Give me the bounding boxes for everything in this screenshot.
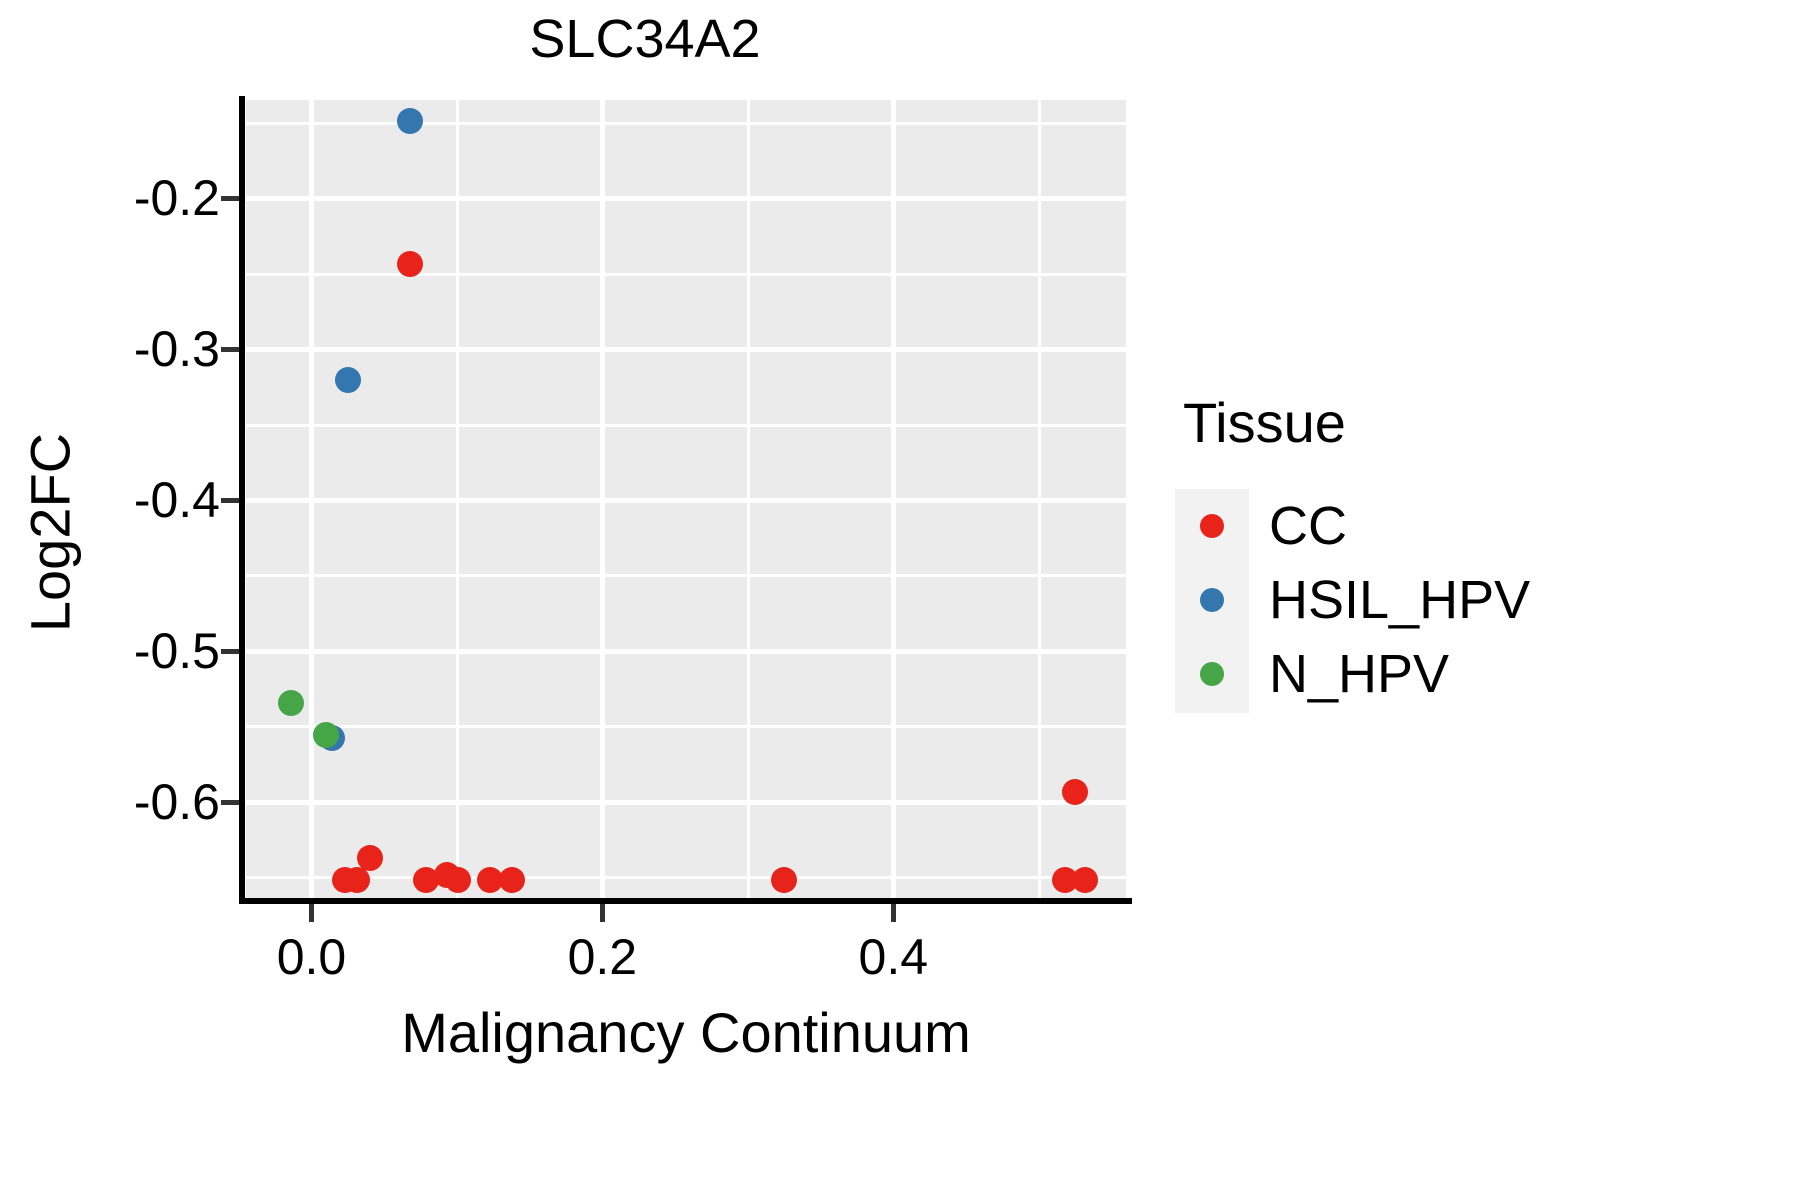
- legend-label: CC: [1269, 499, 1347, 553]
- data-point: [445, 867, 471, 893]
- x-tick-mark: [309, 904, 314, 922]
- gridline-horizontal-major: [246, 800, 1126, 805]
- x-axis-title: Malignancy Continuum: [246, 1000, 1126, 1065]
- x-tick-label: 0.4: [859, 928, 929, 986]
- gridline-horizontal-minor: [246, 574, 1126, 577]
- legend-title: Tissue: [1183, 390, 1675, 455]
- legend-item-hsil-hpv[interactable]: HSIL_HPV: [1175, 563, 1675, 637]
- legend: Tissue CCHSIL_HPVN_HPV: [1175, 390, 1675, 711]
- gridline-horizontal-major: [246, 196, 1126, 201]
- gridline-horizontal-minor: [246, 876, 1126, 879]
- legend-dot-icon: [1200, 662, 1224, 686]
- y-axis-title: Log2FC: [18, 333, 83, 733]
- data-point: [278, 690, 304, 716]
- x-tick-mark: [600, 904, 605, 922]
- gridline-horizontal-major: [246, 347, 1126, 352]
- gridline-vertical-major: [309, 100, 314, 900]
- data-point: [771, 867, 797, 893]
- gridline-vertical-major: [891, 100, 896, 900]
- gridline-vertical-minor: [1038, 100, 1041, 900]
- data-point: [313, 722, 339, 748]
- y-tick-mark: [221, 649, 239, 654]
- gridline-vertical-major: [600, 100, 605, 900]
- gridline-vertical-minor: [747, 100, 750, 900]
- y-tick-label: -0.3: [134, 320, 220, 378]
- gridline-horizontal-major: [246, 498, 1126, 503]
- y-tick-mark: [221, 347, 239, 352]
- x-tick-mark: [891, 904, 896, 922]
- chart-root: SLC34A2 -0.2-0.3-0.4-0.5-0.6 0.00.20.4 L…: [0, 0, 1800, 1200]
- gridline-vertical-minor: [456, 100, 459, 900]
- data-point: [1072, 867, 1098, 893]
- legend-key: [1175, 563, 1249, 637]
- data-point: [1062, 779, 1088, 805]
- data-point: [397, 251, 423, 277]
- y-tick-label: -0.4: [134, 471, 220, 529]
- x-axis-line: [239, 898, 1132, 904]
- x-tick-label: 0.2: [568, 928, 638, 986]
- legend-key: [1175, 637, 1249, 711]
- legend-items: CCHSIL_HPVN_HPV: [1175, 489, 1675, 711]
- plot-panel: [246, 100, 1126, 900]
- legend-item-n-hpv[interactable]: N_HPV: [1175, 637, 1675, 711]
- y-tick-mark: [221, 800, 239, 805]
- gridline-horizontal-minor: [246, 424, 1126, 427]
- gridline-horizontal-minor: [246, 122, 1126, 125]
- data-point: [335, 367, 361, 393]
- x-tick-label: 0.0: [277, 928, 347, 986]
- y-tick-mark: [221, 196, 239, 201]
- legend-label: HSIL_HPV: [1269, 573, 1530, 627]
- legend-key: [1175, 489, 1249, 563]
- gridline-horizontal-minor: [246, 725, 1126, 728]
- y-tick-label: -0.5: [134, 622, 220, 680]
- y-tick-label: -0.6: [134, 773, 220, 831]
- y-axis-line: [239, 96, 245, 904]
- data-point: [499, 867, 525, 893]
- y-tick-mark: [221, 498, 239, 503]
- data-point: [397, 108, 423, 134]
- gridline-horizontal-minor: [246, 273, 1126, 276]
- legend-label: N_HPV: [1269, 647, 1449, 701]
- y-tick-label: -0.2: [134, 169, 220, 227]
- legend-dot-icon: [1200, 514, 1224, 538]
- legend-dot-icon: [1200, 588, 1224, 612]
- data-point: [344, 867, 370, 893]
- gridline-horizontal-major: [246, 649, 1126, 654]
- legend-item-cc[interactable]: CC: [1175, 489, 1675, 563]
- chart-title: SLC34A2: [0, 8, 1290, 70]
